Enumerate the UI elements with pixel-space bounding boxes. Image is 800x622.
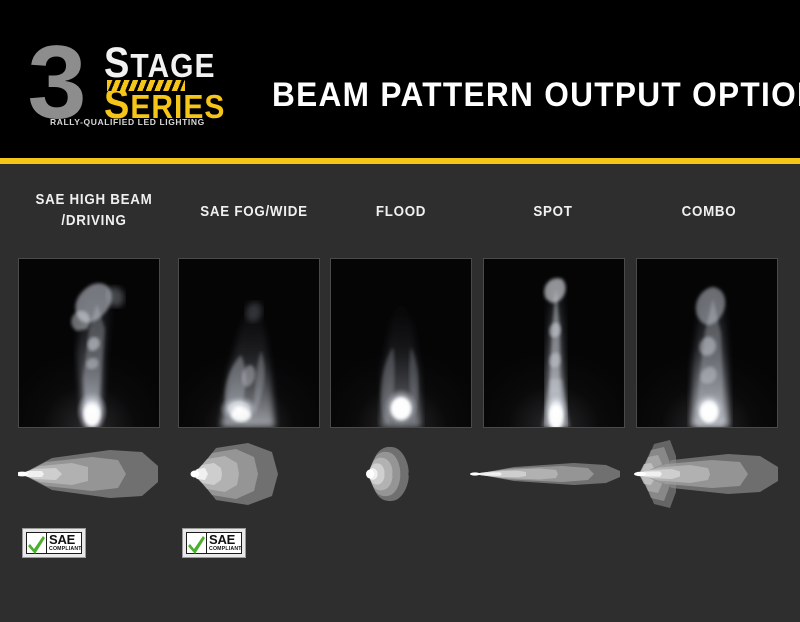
badge-subtitle: COMPLIANT [209, 547, 242, 552]
photo-beam-render [331, 259, 471, 427]
badge-text: SAE COMPLIANT [207, 533, 242, 552]
column-header-combo: COMBO [640, 202, 778, 223]
photo-beam-render [19, 259, 159, 427]
badge-title: SAE [209, 533, 242, 546]
sae-compliant-badge-sae-fog-wide: SAE COMPLIANT [182, 528, 246, 558]
sae-compliant-badge-sae-high-beam-driving: SAE COMPLIANT [22, 528, 86, 558]
column-header-line1: FLOOD [336, 202, 467, 223]
logo-wordmark: STAGE SERIES [104, 47, 254, 121]
stage-series-logo: 3 STAGE SERIES RALLY-QUALIFIED LED LIGHT… [28, 33, 243, 133]
badge-subtitle: COMPLIANT [49, 547, 82, 552]
accent-divider [0, 158, 800, 164]
beam-diagram-flood [364, 440, 444, 508]
beam-photo-sae-fog-wide [178, 258, 320, 428]
column-header-line1: SAE HIGH BEAM [22, 190, 166, 211]
column-header-sae-high-beam-driving: SAE HIGH BEAM /DRIVING [22, 190, 166, 232]
badge-inner: SAE COMPLIANT [26, 532, 82, 554]
photo-beam-render [637, 259, 777, 427]
column-header-line1: SAE FOG/WIDE [182, 202, 326, 223]
check-icon [187, 533, 207, 553]
column-header-sae-fog-wide: SAE FOG/WIDE [182, 202, 326, 223]
logo-stripe-icon [107, 80, 185, 91]
page-title: BEAM PATTERN OUTPUT OPTIONS [272, 76, 800, 115]
photo-beam-render [484, 259, 624, 427]
badge-text: SAE COMPLIANT [47, 533, 82, 552]
beam-photo-combo [636, 258, 778, 428]
column-header-flood: FLOOD [336, 202, 467, 223]
photo-beam-render [179, 259, 319, 427]
beam-photo-sae-high-beam-driving [18, 258, 160, 428]
beam-photo-spot [483, 258, 625, 428]
beam-diagram-spot [470, 440, 630, 508]
column-header-line1: COMBO [640, 202, 778, 223]
logo-word-stage: STAGE [104, 47, 254, 84]
column-header-line1: SPOT [488, 202, 619, 223]
column-header-spot: SPOT [488, 202, 619, 223]
badge-inner: SAE COMPLIANT [186, 532, 242, 554]
beam-diagram-sae-fog-wide [190, 440, 322, 508]
badge-title: SAE [49, 533, 82, 546]
beam-diagram-sae-high-beam-driving [18, 440, 168, 508]
beam-pattern-infographic: 3 STAGE SERIES RALLY-QUALIFIED LED LIGHT… [0, 0, 800, 622]
beam-diagram-combo [632, 440, 792, 508]
logo-tagline: RALLY-QUALIFIED LED LIGHTING [50, 117, 205, 127]
check-icon [27, 533, 47, 553]
header-bar: 3 STAGE SERIES RALLY-QUALIFIED LED LIGHT… [0, 0, 800, 158]
column-header-line2: /DRIVING [22, 211, 166, 232]
beam-photo-flood [330, 258, 472, 428]
